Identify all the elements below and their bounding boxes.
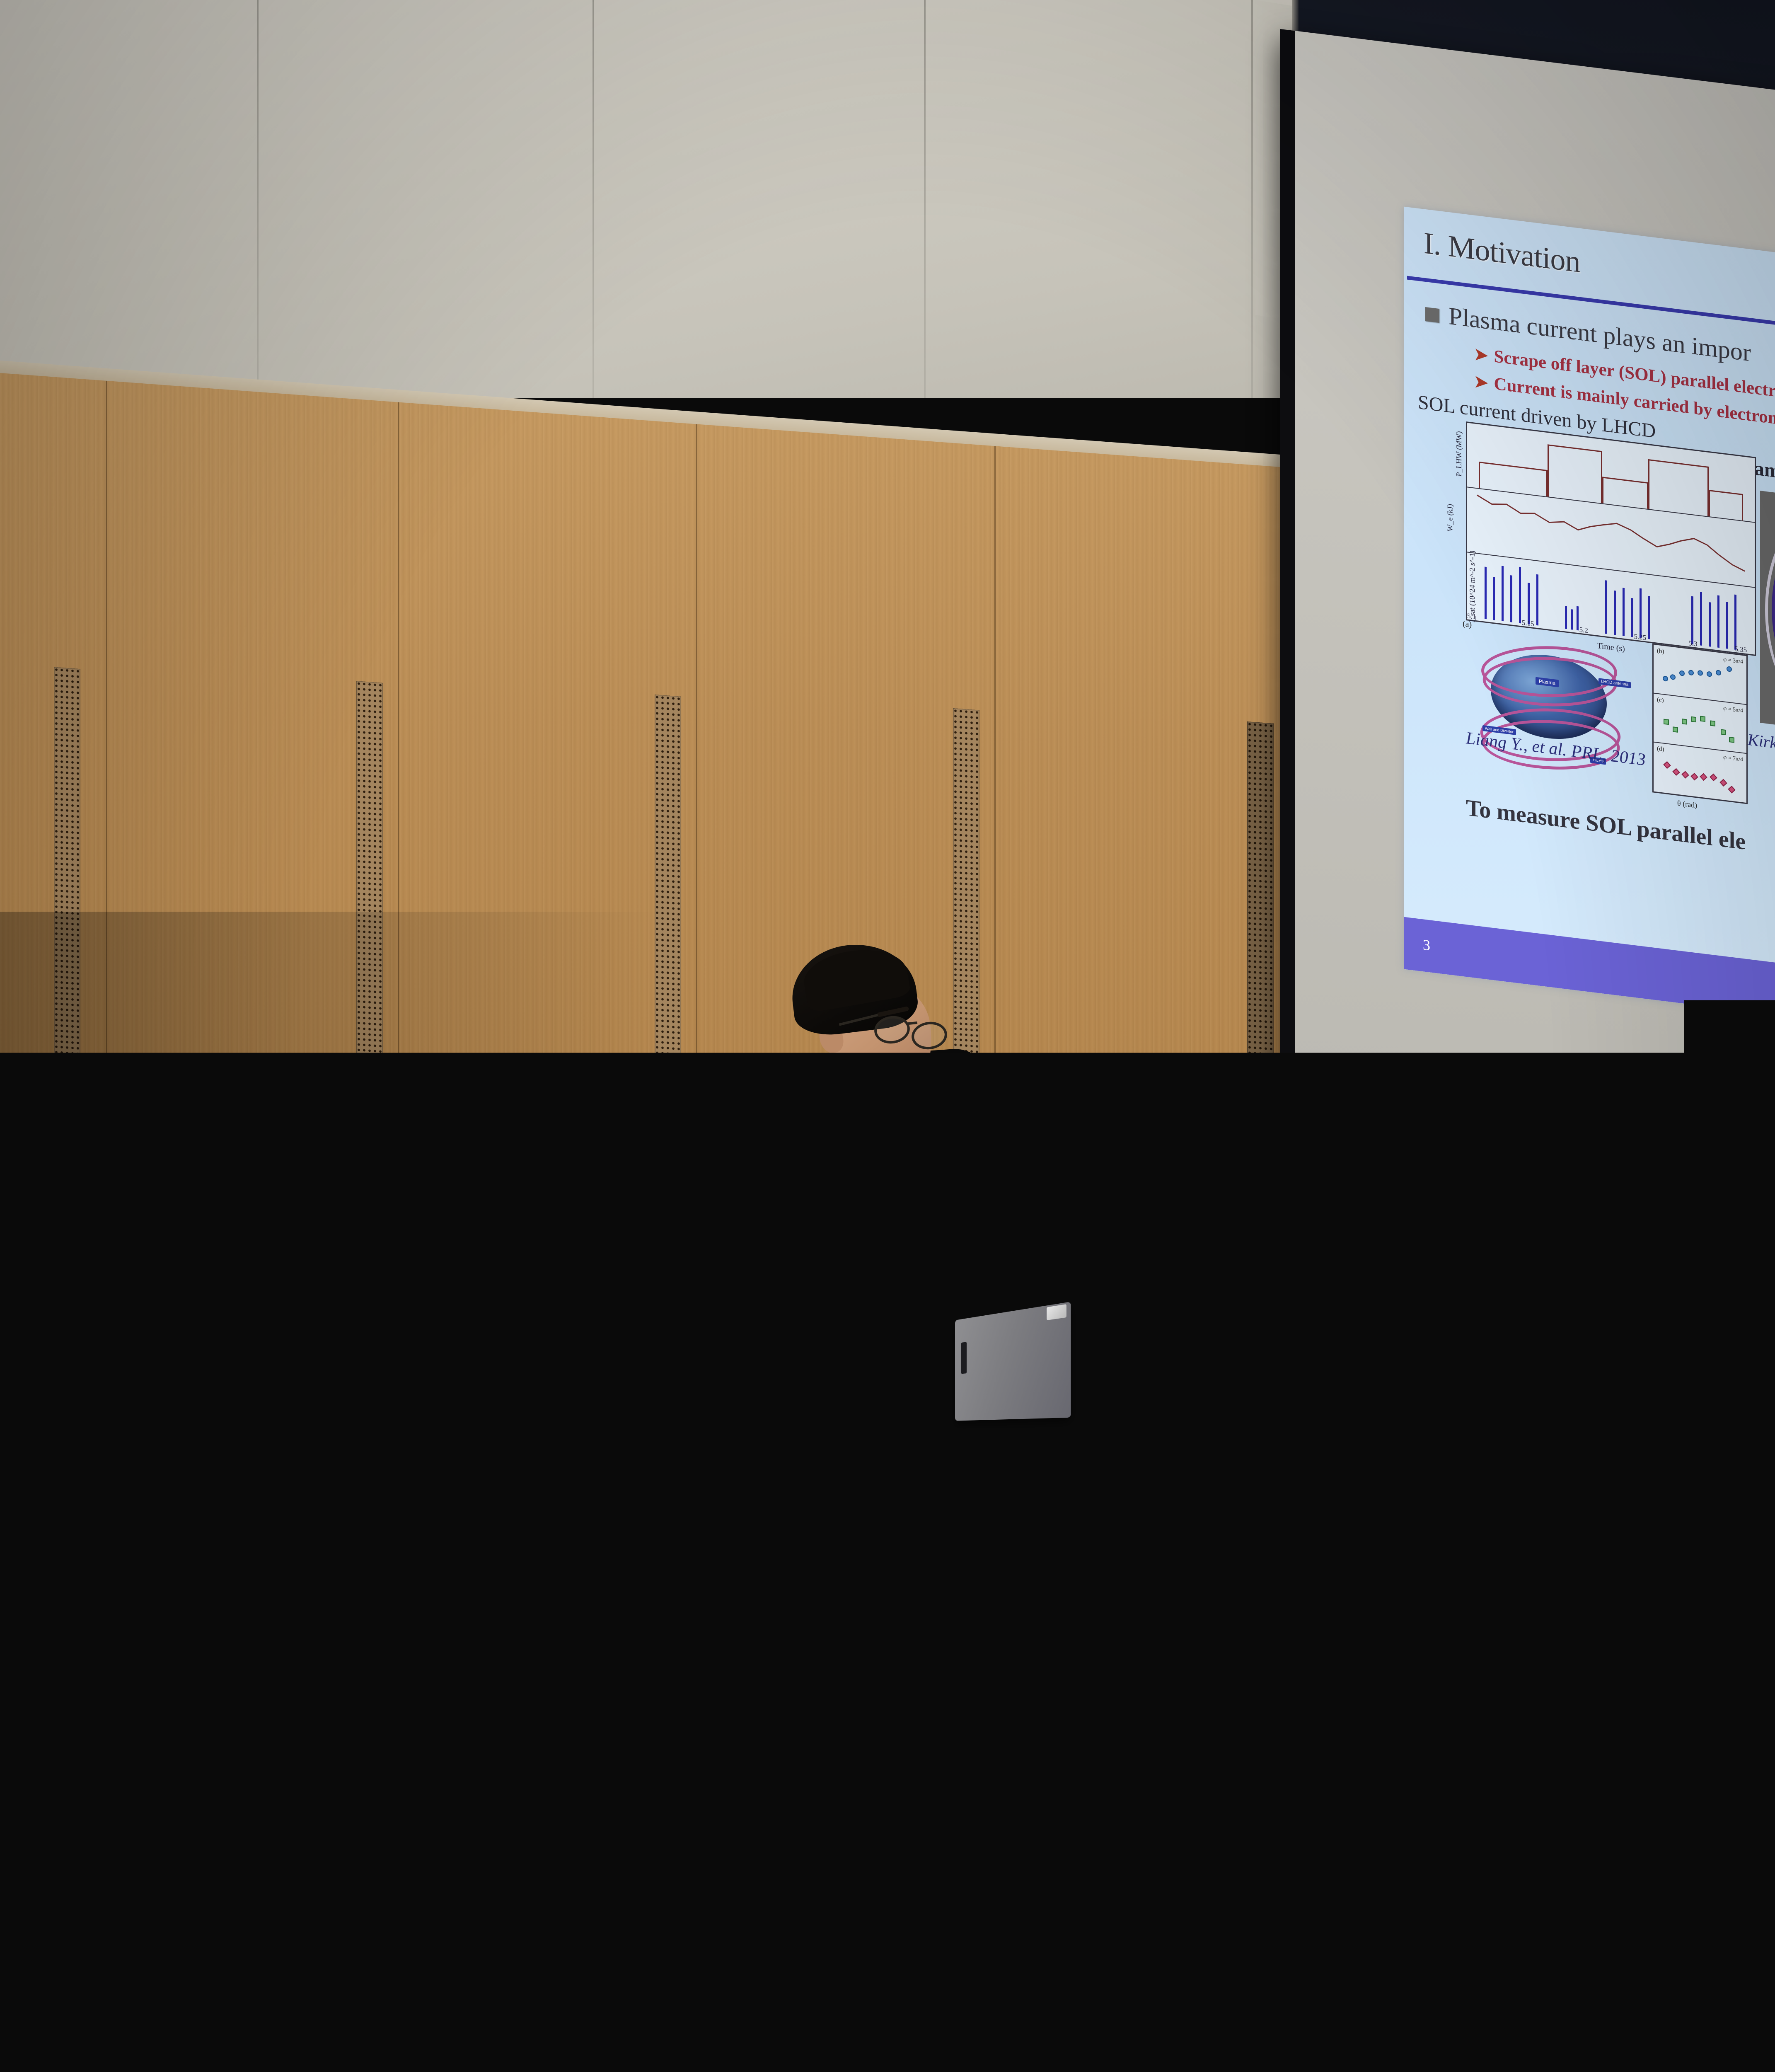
laptop-logo (1059, 1980, 1112, 2037)
xtick: 5.3 (1688, 639, 1697, 649)
air-purifier-unit: O₃ ECO オゾン発生機 この装置は空気清浄を稼働しています。ご注意ください。 (0, 1463, 108, 1753)
purifier-model-box: オゾン発生機 (0, 1641, 41, 1659)
call-bell-plunger[interactable] (517, 2033, 533, 2055)
xtick: 5.2 (1579, 626, 1588, 635)
xtick: 5.25 (1634, 632, 1647, 642)
laptop-sticker (1047, 1304, 1066, 1320)
slide-title: I. Motivation (1424, 225, 1580, 280)
timeseries-figure: P_LHW (MW) W_e (kJ) I_sat (1466, 421, 1756, 656)
projection-screen: I. Motivation Plasma current plays an im… (1280, 29, 1775, 1219)
inset-panel-label: (b) (1657, 648, 1664, 656)
filament-camera-image (1760, 491, 1775, 738)
slide-conclusion: To measure SOL parallel ele (1466, 794, 1746, 855)
rear-lectern-panel (423, 1408, 522, 1501)
slide-footer-bar: 3 AAPPS, 2025 (1404, 917, 1775, 1027)
outlet-led-indicator (1475, 1998, 1490, 2013)
arrow-bullet-icon: ➤ (1474, 344, 1488, 365)
conference-room-photo: I. Motivation Plasma current plays an im… (0, 0, 1775, 2072)
diagram-panel-label: (a) (1463, 619, 1472, 630)
xtick: 5.35 (1734, 645, 1747, 655)
power-outlet[interactable] (1314, 1939, 1354, 1968)
slide-page-number: 3 (1423, 936, 1430, 954)
laptop-vent (961, 1342, 967, 1374)
inset-panel-label: (d) (1657, 745, 1664, 753)
inset-panel-annotation: φ = 7π/4 (1723, 754, 1743, 763)
chart-ylabel: P_LHW (MW) (1455, 431, 1463, 477)
screen-pull-knob[interactable] (1337, 1150, 1353, 1161)
inset-panel-annotation: φ = 5π/4 (1723, 705, 1743, 714)
badge-name: Presenter (826, 1271, 872, 1278)
badge-affiliation: Participant (827, 1281, 873, 1286)
purifier-vent-slot (0, 1472, 75, 1481)
conference-badge: AAPPS-DPP Presenter Participant (821, 1230, 875, 1312)
power-outlet[interactable] (1436, 1980, 1475, 2009)
outlet-led-indicator (1354, 1957, 1369, 1971)
acoustic-perforated-strip (1247, 721, 1274, 1403)
upper-wall (0, 0, 1301, 398)
xtick: 5.15 (1522, 619, 1534, 629)
outlet-led-indicator (1395, 1970, 1409, 1985)
ozone-logo: O₃ (0, 1546, 36, 1583)
inset-xlabel: θ (rad) (1677, 799, 1697, 810)
chart-ylabel: W_e (kJ) (1446, 503, 1455, 532)
inset-panel-annotation: φ = 3π/4 (1723, 656, 1743, 666)
microphone-head[interactable] (921, 1130, 955, 1165)
square-bullet-icon (1425, 307, 1439, 323)
vessel-wall-arc (1765, 501, 1775, 724)
citation-right: Kirk A., et a (1748, 730, 1775, 759)
power-outlet[interactable] (1476, 1994, 1515, 2023)
purifier-note: この装置は空気清浄を稼働しています。ご注意ください。 (0, 1670, 56, 1695)
presentation-slide: I. Motivation Plasma current plays an im… (1404, 207, 1775, 1027)
projection-screen-surface: I. Motivation Plasma current plays an im… (1295, 31, 1775, 1128)
podium-laptop-lid[interactable] (955, 1302, 1071, 1421)
acoustic-perforated-strip (54, 667, 80, 1316)
eco-label: ECO (0, 1587, 19, 1604)
arrow-bullet-icon: ➤ (1474, 372, 1488, 392)
badge-header-text: AAPPS-DPP (824, 1233, 870, 1239)
floor-outlet-plate (178, 1473, 238, 1602)
outlet-led-indicator (1435, 1984, 1449, 1999)
outlet-led-indicator (1314, 1943, 1328, 1958)
inset-panel-label: (c) (1657, 696, 1664, 704)
inset-scatter-panels: (b) φ = 3π/4 (c) φ = 5π/4 (1652, 643, 1748, 804)
